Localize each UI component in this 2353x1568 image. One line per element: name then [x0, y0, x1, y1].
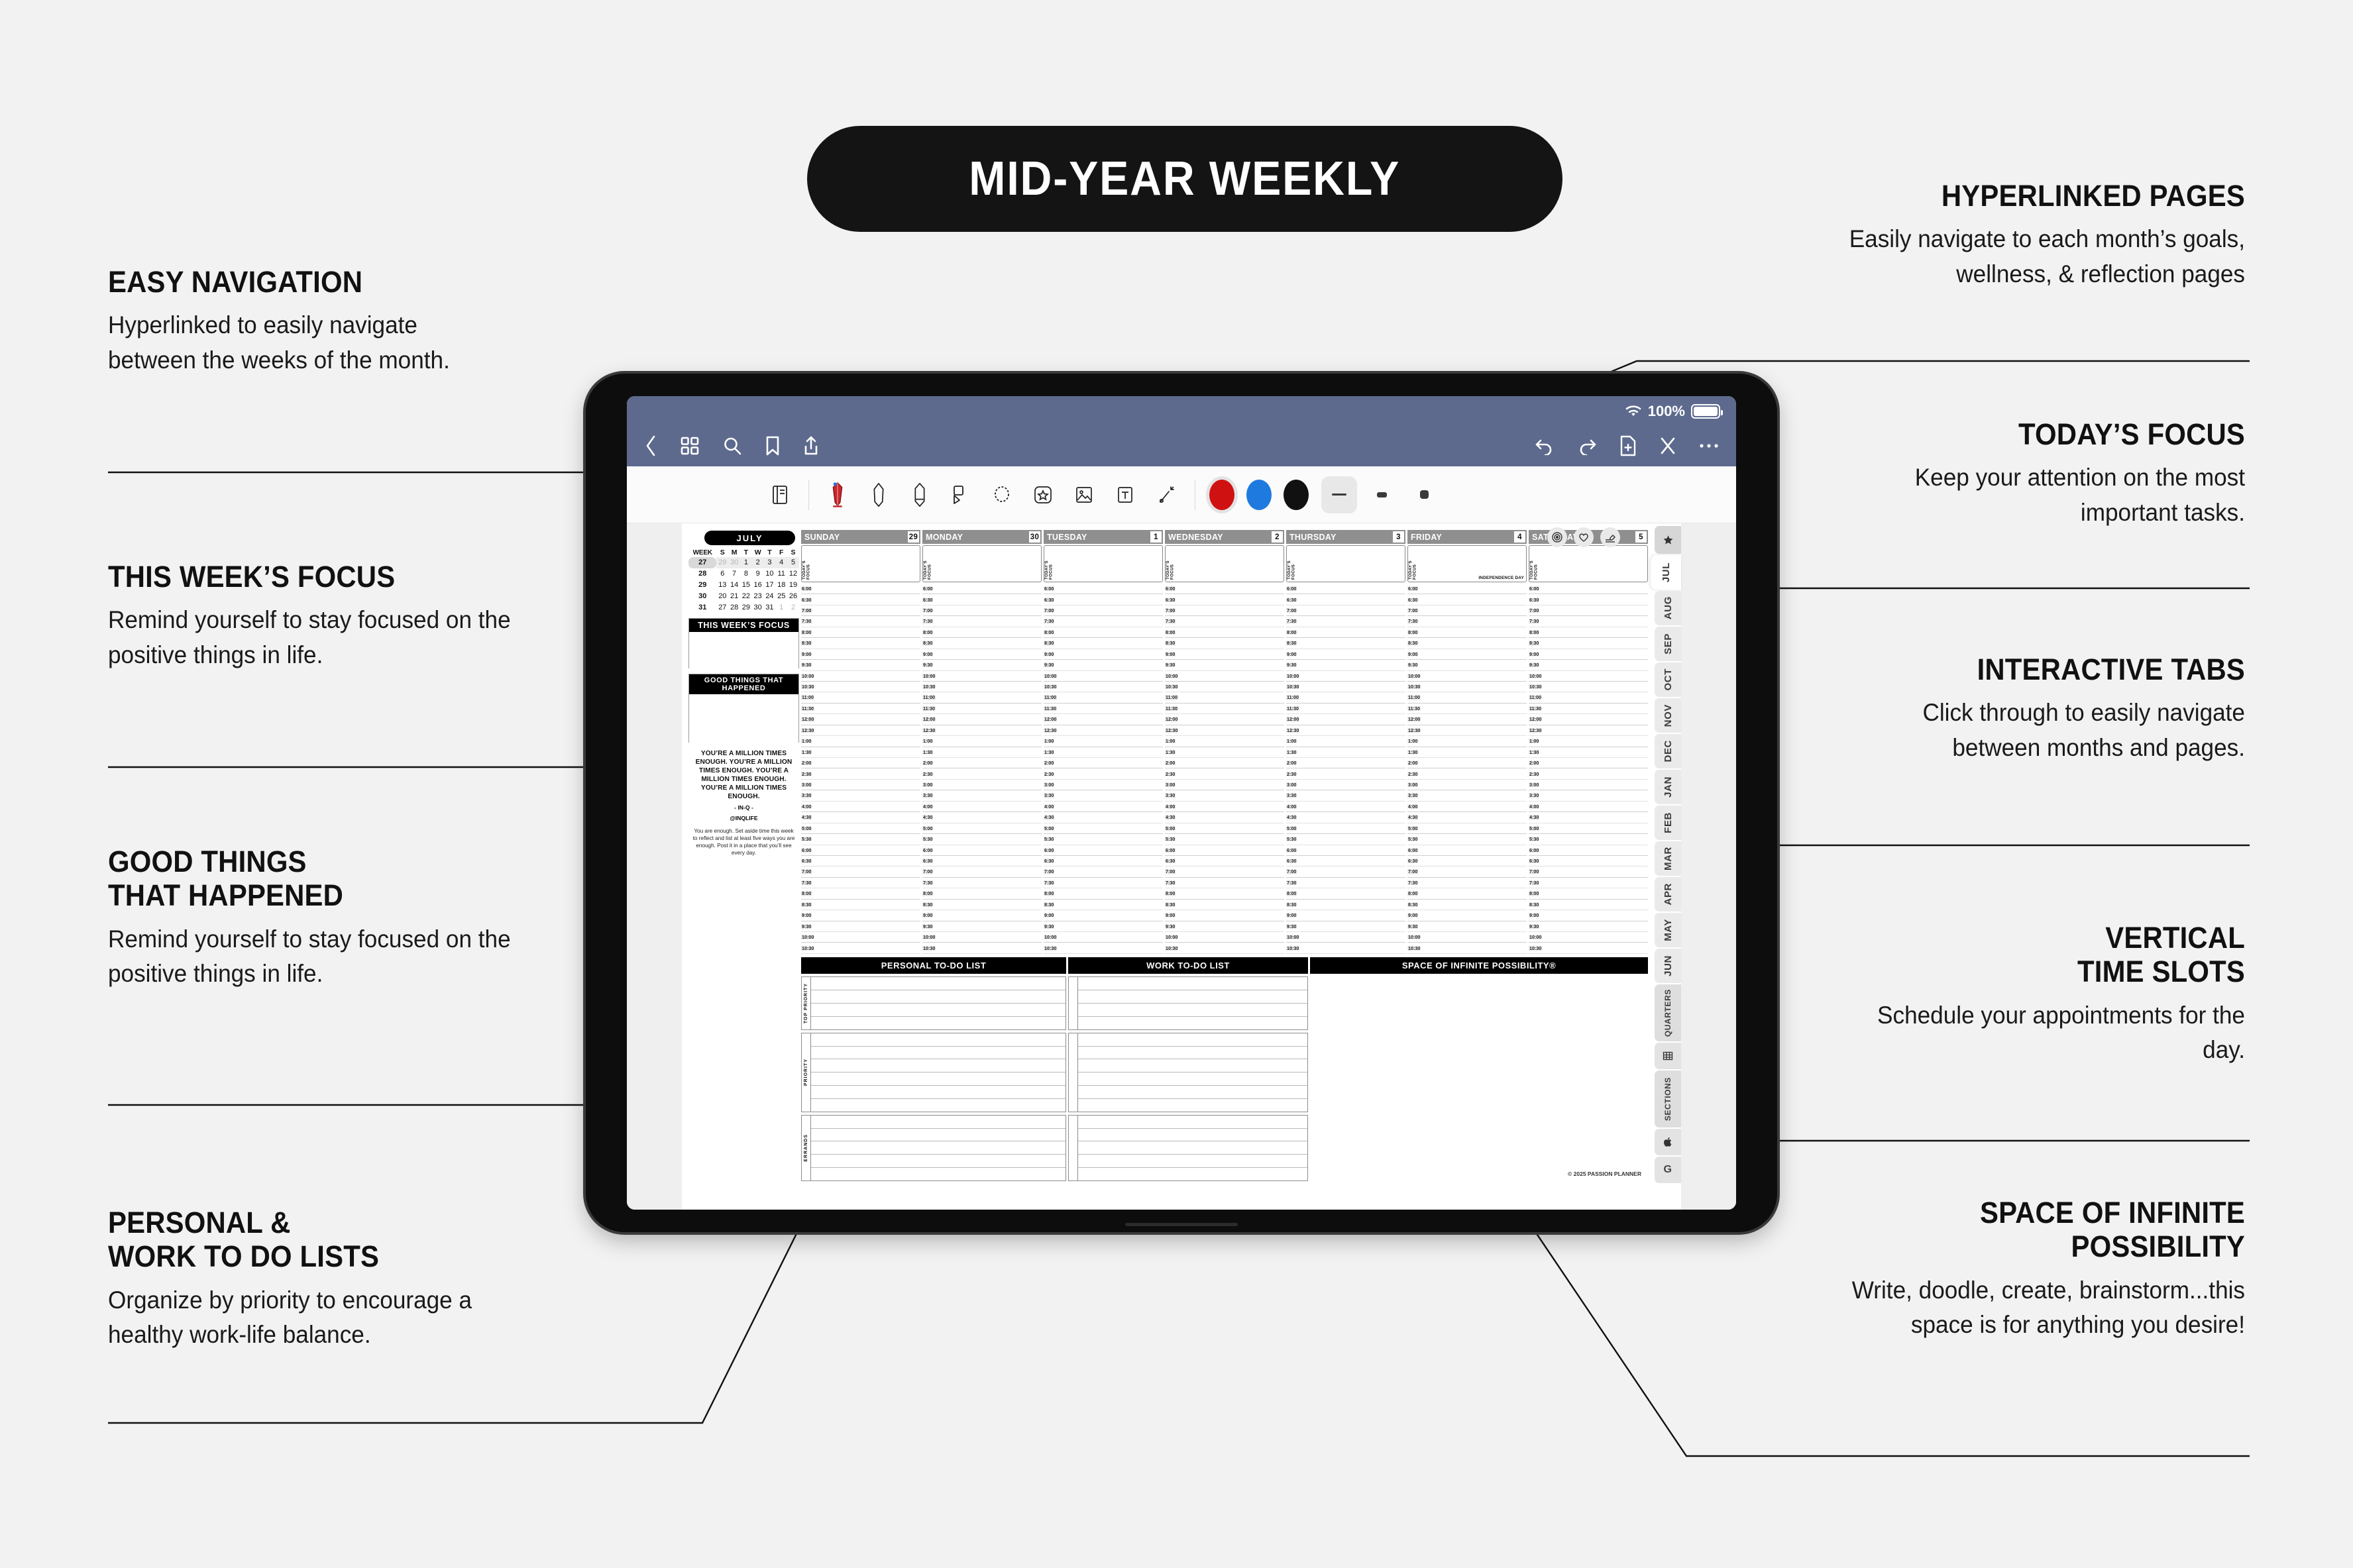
time-slot[interactable]: 7:00	[801, 605, 920, 616]
time-slot[interactable]: 5:00	[1044, 823, 1163, 834]
time-slot[interactable]: 8:30	[1529, 900, 1648, 910]
search-icon[interactable]	[722, 436, 742, 456]
time-slot[interactable]: 9:00	[922, 910, 1042, 921]
tab-quarters[interactable]: QUARTERS	[1655, 984, 1681, 1041]
time-slot[interactable]: 1:30	[1165, 747, 1284, 758]
time-slot[interactable]: 4:30	[1529, 812, 1648, 823]
mini-cal-day[interactable]: 6	[716, 568, 728, 580]
time-slot[interactable]: 12:00	[1165, 714, 1284, 725]
tab-favorites[interactable]	[1655, 526, 1681, 554]
time-slot[interactable]: 5:00	[922, 823, 1042, 834]
eraser-icon[interactable]	[899, 474, 940, 515]
time-slot[interactable]: 8:00	[1165, 627, 1284, 638]
time-slot[interactable]: 8:30	[801, 638, 920, 649]
time-slot[interactable]: 3:30	[801, 790, 920, 801]
time-slot[interactable]: 6:30	[1165, 594, 1284, 605]
mini-cal-day[interactable]: 29	[716, 557, 728, 568]
time-slot[interactable]: 10:30	[1407, 682, 1527, 692]
time-slot[interactable]: 7:00	[1407, 866, 1527, 877]
tab-sections[interactable]: SECTIONS	[1655, 1071, 1681, 1127]
mini-cal-day[interactable]: 3	[764, 557, 776, 568]
time-slot[interactable]: 7:30	[1529, 878, 1648, 888]
mini-cal-week-number[interactable]: 30	[688, 590, 716, 601]
time-slot[interactable]: 9:30	[1286, 921, 1405, 932]
time-slot[interactable]: 10:30	[1165, 682, 1284, 692]
time-slot[interactable]: 7:00	[1165, 866, 1284, 877]
add-page-icon[interactable]	[1619, 435, 1637, 456]
time-slot[interactable]: 3:00	[1286, 780, 1405, 790]
time-slot[interactable]: 8:00	[922, 888, 1042, 899]
time-slot[interactable]: 9:30	[1529, 921, 1648, 932]
stroke-width-thick[interactable]	[1406, 476, 1442, 513]
mini-cal-day[interactable]: 30	[728, 557, 740, 568]
time-slot[interactable]: 8:00	[1407, 888, 1527, 899]
color-swatch-blue[interactable]	[1246, 480, 1272, 510]
mini-cal-day[interactable]: 16	[752, 580, 764, 591]
time-slot[interactable]: 11:00	[1529, 692, 1648, 703]
time-slot[interactable]: 2:00	[1407, 758, 1527, 768]
time-slot[interactable]: 8:30	[1529, 638, 1648, 649]
stroke-width-medium[interactable]	[1364, 476, 1399, 513]
time-slot[interactable]: 8:30	[1165, 900, 1284, 910]
time-slot[interactable]: 12:30	[1407, 725, 1527, 736]
mini-cal-day[interactable]: 25	[775, 590, 787, 601]
time-slot[interactable]: 10:00	[922, 932, 1042, 943]
mini-cal-day[interactable]: 24	[764, 590, 776, 601]
time-slot[interactable]: 3:00	[922, 780, 1042, 790]
time-slot[interactable]: 7:30	[1529, 616, 1648, 627]
time-slot[interactable]: 12:30	[1529, 725, 1648, 736]
time-slot[interactable]: 10:00	[1407, 932, 1527, 943]
time-slot[interactable]: 10:30	[922, 943, 1042, 953]
time-slot[interactable]: 12:30	[922, 725, 1042, 736]
time-slot[interactable]: 9:00	[1286, 649, 1405, 660]
time-slot[interactable]: 6:00	[1165, 584, 1284, 594]
time-slot[interactable]: 10:00	[1407, 671, 1527, 682]
time-slot[interactable]: 6:00	[1165, 845, 1284, 856]
time-slot[interactable]: 5:30	[1529, 834, 1648, 845]
time-slot[interactable]: 10:30	[1044, 682, 1163, 692]
time-slot[interactable]: 8:00	[922, 627, 1042, 638]
time-slot[interactable]: 10:00	[1286, 671, 1405, 682]
mini-cal-day[interactable]: 23	[752, 590, 764, 601]
mini-cal-week-number[interactable]: 28	[688, 568, 716, 580]
time-slot[interactable]: 8:00	[801, 888, 920, 899]
mini-cal-week-number[interactable]: 31	[688, 601, 716, 613]
time-slot[interactable]: 1:30	[922, 747, 1042, 758]
time-slot[interactable]: 2:30	[801, 768, 920, 779]
time-slot[interactable]: 10:00	[1529, 932, 1648, 943]
time-slot[interactable]: 10:00	[1044, 671, 1163, 682]
time-slot[interactable]: 12:00	[922, 714, 1042, 725]
time-slot[interactable]: 8:30	[1044, 900, 1163, 910]
time-slot[interactable]: 3:00	[1165, 780, 1284, 790]
time-slot[interactable]: 4:30	[1165, 812, 1284, 823]
time-slot[interactable]: 7:30	[1044, 616, 1163, 627]
time-slot[interactable]: 9:00	[1407, 910, 1527, 921]
time-slot[interactable]: 10:00	[801, 671, 920, 682]
tab-sep[interactable]: SEP	[1655, 627, 1681, 661]
time-slot[interactable]: 8:30	[1286, 900, 1405, 910]
highlighter-icon[interactable]	[858, 474, 899, 515]
time-slot[interactable]: 2:00	[1165, 758, 1284, 768]
time-slot[interactable]: 11:00	[1407, 692, 1527, 703]
time-slot[interactable]: 1:30	[1286, 747, 1405, 758]
time-slot[interactable]: 1:30	[1044, 747, 1163, 758]
time-slot[interactable]: 6:00	[1529, 845, 1648, 856]
time-slot[interactable]: 6:30	[1286, 594, 1405, 605]
time-slot[interactable]: 11:00	[1165, 692, 1284, 703]
mini-cal-day[interactable]: 29	[740, 601, 752, 613]
time-slot[interactable]: 12:00	[801, 714, 920, 725]
time-slot[interactable]: 7:30	[1407, 616, 1527, 627]
time-slot[interactable]: 12:00	[1286, 714, 1405, 725]
time-slot[interactable]: 5:00	[1407, 823, 1527, 834]
time-slot[interactable]: 10:30	[1529, 943, 1648, 953]
mini-cal-day[interactable]: 9	[752, 568, 764, 580]
time-slot[interactable]: 4:30	[1407, 812, 1527, 823]
time-slot[interactable]: 8:00	[1407, 627, 1527, 638]
mini-cal-day[interactable]: 12	[787, 568, 799, 580]
time-slot[interactable]: 6:00	[922, 845, 1042, 856]
time-slot[interactable]: 6:00	[1407, 584, 1527, 594]
time-slot[interactable]: 10:00	[1165, 671, 1284, 682]
time-slot[interactable]: 1:00	[1286, 736, 1405, 747]
time-slot[interactable]: 4:00	[1044, 802, 1163, 812]
time-slot[interactable]: 11:30	[922, 704, 1042, 714]
todays-focus-box[interactable]: TODAY’S FOCUS	[801, 545, 920, 582]
time-slot[interactable]: 10:30	[1286, 682, 1405, 692]
tab-jul[interactable]: JUL	[1651, 555, 1681, 590]
time-slot[interactable]: 10:30	[1044, 943, 1163, 953]
time-slot[interactable]: 4:30	[1286, 812, 1405, 823]
time-slot[interactable]: 3:00	[1044, 780, 1163, 790]
time-slot[interactable]: 6:00	[801, 845, 920, 856]
tab-apr[interactable]: APR	[1655, 877, 1681, 912]
reading-mode-icon[interactable]	[759, 474, 800, 515]
mini-cal-day[interactable]: 2	[787, 601, 799, 613]
time-slot[interactable]: 8:30	[1286, 638, 1405, 649]
time-slot[interactable]: 7:30	[1407, 878, 1527, 888]
time-slot[interactable]: 9:30	[1165, 921, 1284, 932]
todo-group-errands-work[interactable]	[1068, 1115, 1308, 1181]
time-slot[interactable]: 8:30	[922, 900, 1042, 910]
time-slot[interactable]: 1:30	[1529, 747, 1648, 758]
time-slot[interactable]: 8:30	[1407, 638, 1527, 649]
time-slot[interactable]: 7:00	[922, 866, 1042, 877]
day-header[interactable]: TUESDAY1	[1044, 530, 1163, 544]
time-slot[interactable]: 5:30	[1044, 834, 1163, 845]
time-slot[interactable]: 11:30	[1165, 704, 1284, 714]
time-slot[interactable]: 9:00	[1044, 649, 1163, 660]
time-slot[interactable]: 2:30	[1044, 768, 1163, 779]
time-slot[interactable]: 10:30	[922, 682, 1042, 692]
mini-cal-day[interactable]: 5	[787, 557, 799, 568]
time-slot[interactable]: 8:30	[922, 638, 1042, 649]
back-chevron-icon[interactable]	[644, 435, 657, 457]
time-slot[interactable]: 7:00	[922, 605, 1042, 616]
time-slot[interactable]: 6:30	[1044, 594, 1163, 605]
time-slot[interactable]: 6:00	[1044, 584, 1163, 594]
day-header[interactable]: FRIDAY4	[1407, 530, 1527, 544]
mini-cal-day[interactable]: 8	[740, 568, 752, 580]
time-slot[interactable]: 11:30	[801, 704, 920, 714]
time-slot[interactable]: 10:30	[1286, 943, 1405, 953]
time-slot[interactable]: 7:30	[1165, 616, 1284, 627]
time-slot[interactable]: 9:30	[1044, 921, 1163, 932]
time-slot[interactable]: 9:30	[922, 660, 1042, 670]
time-slot[interactable]: 11:00	[922, 692, 1042, 703]
this-weeks-focus-block[interactable]: THIS WEEK’S FOCUS	[688, 618, 799, 668]
mini-calendar[interactable]: WEEK S M T W T F S	[688, 548, 799, 613]
pen-icon[interactable]	[817, 474, 858, 515]
time-slot[interactable]: 6:30	[801, 594, 920, 605]
time-slot[interactable]: 8:00	[1044, 888, 1163, 899]
time-slot[interactable]: 8:00	[801, 627, 920, 638]
mini-cal-day[interactable]: 21	[728, 590, 740, 601]
time-slot[interactable]: 3:00	[1529, 780, 1648, 790]
todo-group-priority[interactable]: PRIORITY	[801, 1033, 1066, 1112]
time-slot[interactable]: 2:30	[1286, 768, 1405, 779]
time-slot[interactable]: 3:00	[1407, 780, 1527, 790]
time-slot[interactable]: 9:30	[1407, 660, 1527, 670]
time-slot[interactable]: 7:00	[1044, 605, 1163, 616]
tab-apple-icon[interactable]	[1655, 1129, 1681, 1155]
time-slot[interactable]: 8:30	[801, 900, 920, 910]
day-header[interactable]: SUNDAY29	[801, 530, 920, 544]
todays-focus-box[interactable]: TODAY’S FOCUS	[1286, 545, 1405, 582]
mini-cal-day[interactable]: 19	[787, 580, 799, 591]
mini-cal-week-number[interactable]: 29	[688, 580, 716, 591]
time-slot[interactable]: 7:00	[1165, 605, 1284, 616]
todays-focus-box[interactable]: TODAY’S FOCUS	[1044, 545, 1163, 582]
tab-grid-icon[interactable]	[1655, 1043, 1681, 1069]
time-slot[interactable]: 7:30	[922, 616, 1042, 627]
time-slot[interactable]: 6:00	[1407, 845, 1527, 856]
time-slot[interactable]: 3:30	[1044, 790, 1163, 801]
day-header[interactable]: WEDNESDAY2	[1165, 530, 1284, 544]
time-slot[interactable]: 9:00	[1529, 910, 1648, 921]
time-slot[interactable]: 9:00	[1165, 649, 1284, 660]
time-slot[interactable]: 2:00	[1286, 758, 1405, 768]
todo-group-errands[interactable]: ERRANDS	[801, 1115, 1066, 1181]
time-slot[interactable]: 9:00	[922, 649, 1042, 660]
mini-cal-day[interactable]: 31	[764, 601, 776, 613]
mini-cal-day[interactable]: 22	[740, 590, 752, 601]
time-slot[interactable]: 6:30	[1407, 594, 1527, 605]
time-slot[interactable]: 1:00	[801, 736, 920, 747]
time-slot[interactable]: 7:30	[1044, 878, 1163, 888]
time-slot[interactable]: 5:00	[1286, 823, 1405, 834]
time-slot[interactable]: 12:30	[1286, 725, 1405, 736]
todo-group-priority-work[interactable]	[1068, 1033, 1308, 1112]
time-slot[interactable]: 10:00	[801, 932, 920, 943]
mini-cal-day[interactable]: 26	[787, 590, 799, 601]
time-slot[interactable]: 1:00	[1407, 736, 1527, 747]
time-slot[interactable]: 2:30	[1529, 768, 1648, 779]
lasso-icon[interactable]	[940, 474, 981, 515]
time-slot[interactable]: 7:30	[1286, 616, 1405, 627]
todo-group-top-priority[interactable]: TOP PRIORITY	[801, 976, 1066, 1030]
time-slot[interactable]: 10:30	[1529, 682, 1648, 692]
time-slot[interactable]: 6:30	[1286, 856, 1405, 866]
time-slot[interactable]: 8:00	[1044, 627, 1163, 638]
time-slot[interactable]: 9:00	[1529, 649, 1648, 660]
good-things-block[interactable]: GOOD THINGS THAT HAPPENED	[688, 674, 799, 743]
time-slot[interactable]: 8:00	[1529, 627, 1648, 638]
time-slot[interactable]: 5:00	[1529, 823, 1648, 834]
mini-cal-day[interactable]: 17	[764, 580, 776, 591]
time-slot[interactable]: 2:30	[922, 768, 1042, 779]
tab-dec[interactable]: DEC	[1655, 734, 1681, 768]
time-slot[interactable]: 6:30	[1044, 856, 1163, 866]
mini-cal-day[interactable]: 13	[716, 580, 728, 591]
time-slot[interactable]: 11:30	[1044, 704, 1163, 714]
time-slot[interactable]: 2:30	[1165, 768, 1284, 779]
time-slot[interactable]: 8:00	[1286, 888, 1405, 899]
time-slot[interactable]: 7:30	[801, 878, 920, 888]
time-slot[interactable]: 3:30	[1286, 790, 1405, 801]
tab-mar[interactable]: MAR	[1655, 841, 1681, 876]
time-slot[interactable]: 5:30	[801, 834, 920, 845]
time-slot[interactable]: 9:30	[1286, 660, 1405, 670]
heart-icon[interactable]	[1574, 527, 1594, 547]
space-of-infinite-possibility[interactable]: SPACE OF INFINITE POSSIBILITY® © 2025 PA…	[1310, 957, 1648, 1181]
time-slot[interactable]: 5:30	[1407, 834, 1527, 845]
undo-icon[interactable]	[1535, 437, 1555, 455]
more-options-icon[interactable]	[1699, 443, 1719, 449]
time-slot[interactable]: 12:00	[1407, 714, 1527, 725]
bookmark-icon[interactable]	[765, 435, 781, 456]
time-slot[interactable]: 6:00	[1044, 845, 1163, 856]
time-slot[interactable]: 10:30	[801, 943, 920, 953]
time-slot[interactable]: 6:00	[801, 584, 920, 594]
time-slot[interactable]: 4:30	[1044, 812, 1163, 823]
mini-cal-day[interactable]: 15	[740, 580, 752, 591]
time-slot[interactable]: 8:30	[1044, 638, 1163, 649]
time-slot[interactable]: 4:00	[1529, 802, 1648, 812]
time-slot[interactable]: 2:30	[1407, 768, 1527, 779]
todays-focus-box[interactable]: TODAY’S FOCUS	[922, 545, 1042, 582]
time-slot[interactable]: 7:00	[1529, 605, 1648, 616]
time-slot[interactable]: 1:30	[801, 747, 920, 758]
time-slot[interactable]: 7:00	[1286, 866, 1405, 877]
time-slot[interactable]: 11:30	[1529, 704, 1648, 714]
shape-icon[interactable]	[981, 474, 1022, 515]
time-slot[interactable]: 8:30	[1165, 638, 1284, 649]
time-slot[interactable]: 11:00	[1286, 692, 1405, 703]
time-slot[interactable]: 1:00	[1529, 736, 1648, 747]
sticker-icon[interactable]	[1022, 474, 1064, 515]
time-slot[interactable]: 6:30	[1165, 856, 1284, 866]
time-slot[interactable]: 12:00	[1529, 714, 1648, 725]
time-slot[interactable]: 6:00	[1286, 845, 1405, 856]
day-header[interactable]: MONDAY30	[922, 530, 1042, 544]
time-slot[interactable]: 3:30	[1529, 790, 1648, 801]
time-slot[interactable]: 10:00	[1286, 932, 1405, 943]
time-slot[interactable]: 5:30	[1286, 834, 1405, 845]
color-swatch-black[interactable]	[1284, 480, 1309, 510]
tab-nov[interactable]: NOV	[1655, 698, 1681, 733]
stroke-width-thin[interactable]	[1321, 476, 1357, 513]
time-slot[interactable]: 10:30	[801, 682, 920, 692]
time-slot[interactable]: 1:30	[1407, 747, 1527, 758]
time-slot[interactable]: 3:00	[801, 780, 920, 790]
time-slot[interactable]: 8:00	[1165, 888, 1284, 899]
time-slot[interactable]: 4:30	[801, 812, 920, 823]
time-slot[interactable]: 12:30	[1044, 725, 1163, 736]
todays-focus-box[interactable]: TODAY’S FOCUS	[1529, 545, 1648, 582]
time-slot[interactable]: 11:30	[1286, 704, 1405, 714]
close-icon[interactable]	[1659, 437, 1676, 455]
time-slot[interactable]: 3:30	[1407, 790, 1527, 801]
mini-cal-day[interactable]: 10	[764, 568, 776, 580]
mini-cal-day[interactable]: 2	[752, 557, 764, 568]
time-slot[interactable]: 9:30	[1529, 660, 1648, 670]
time-slot[interactable]: 8:00	[1286, 627, 1405, 638]
time-slot[interactable]: 2:00	[922, 758, 1042, 768]
time-slot[interactable]: 4:00	[801, 802, 920, 812]
time-slot[interactable]: 4:30	[922, 812, 1042, 823]
time-slot[interactable]: 6:00	[922, 584, 1042, 594]
time-slot[interactable]: 7:00	[1044, 866, 1163, 877]
time-slot[interactable]: 9:00	[1407, 649, 1527, 660]
time-slot[interactable]: 12:00	[1044, 714, 1163, 725]
time-slot[interactable]: 6:30	[1529, 594, 1648, 605]
time-slot[interactable]: 5:30	[1165, 834, 1284, 845]
time-slot[interactable]: 10:00	[1529, 671, 1648, 682]
tab-jun[interactable]: JUN	[1655, 949, 1681, 983]
todays-focus-box[interactable]: TODAY’S FOCUS	[1165, 545, 1284, 582]
mini-cal-day[interactable]: 4	[775, 557, 787, 568]
time-slot[interactable]: 6:30	[801, 856, 920, 866]
time-slot[interactable]: 9:00	[801, 910, 920, 921]
time-slot[interactable]: 9:30	[922, 921, 1042, 932]
time-slot[interactable]: 8:00	[1529, 888, 1648, 899]
time-slot[interactable]: 6:30	[922, 594, 1042, 605]
mini-cal-day[interactable]: 1	[775, 601, 787, 613]
day-header[interactable]: THURSDAY3	[1286, 530, 1405, 544]
time-slot[interactable]: 6:30	[922, 856, 1042, 866]
mini-cal-day[interactable]: 11	[775, 568, 787, 580]
time-slot[interactable]: 10:30	[1165, 943, 1284, 953]
reflection-icon[interactable]	[1600, 527, 1620, 547]
time-slot[interactable]: 3:30	[1165, 790, 1284, 801]
time-slot[interactable]: 6:00	[1529, 584, 1648, 594]
time-slot[interactable]: 7:30	[1286, 878, 1405, 888]
time-slot[interactable]: 3:30	[922, 790, 1042, 801]
time-slot[interactable]: 9:30	[801, 660, 920, 670]
text-box-icon[interactable]	[1105, 474, 1146, 515]
time-slot[interactable]: 8:30	[1407, 900, 1527, 910]
color-swatch-red[interactable]	[1209, 480, 1234, 510]
time-slot[interactable]: 7:00	[1407, 605, 1527, 616]
time-slot[interactable]: 12:30	[1165, 725, 1284, 736]
time-slot[interactable]: 1:00	[1044, 736, 1163, 747]
time-slot[interactable]: 9:00	[1286, 910, 1405, 921]
time-slot[interactable]: 10:30	[1407, 943, 1527, 953]
time-slot[interactable]: 9:30	[1407, 921, 1527, 932]
time-slot[interactable]: 7:30	[1165, 878, 1284, 888]
time-slot[interactable]: 11:30	[1407, 704, 1527, 714]
time-slot[interactable]: 12:30	[801, 725, 920, 736]
mini-cal-day[interactable]: 28	[728, 601, 740, 613]
time-slot[interactable]: 7:00	[1286, 605, 1405, 616]
mini-cal-week-number[interactable]: 27	[688, 557, 716, 568]
time-slot[interactable]: 5:00	[1165, 823, 1284, 834]
mini-cal-day[interactable]: 1	[740, 557, 752, 568]
time-slot[interactable]: 2:00	[1529, 758, 1648, 768]
